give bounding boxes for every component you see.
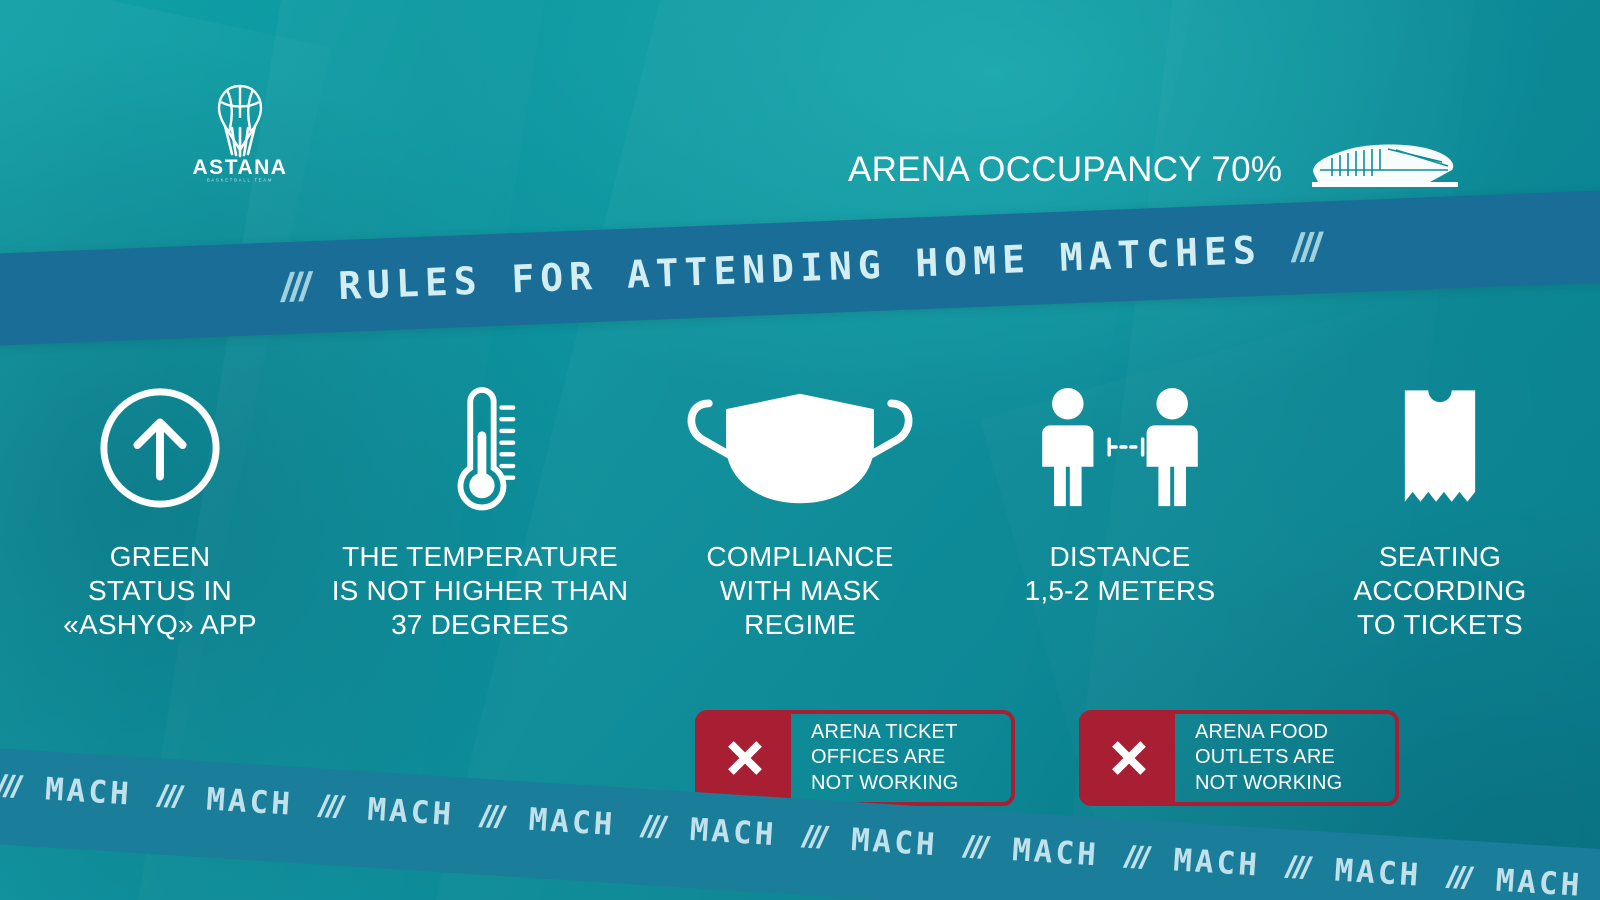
bottom-banner-word: MACH (205, 781, 294, 822)
rule-item-mask: COMPLIANCE WITH MASK REGIME (640, 378, 960, 642)
bottom-banner-slashes: /// (318, 788, 343, 825)
warning-box-ticket-offices: ARENA TICKET OFFICES ARE NOT WORKING (695, 710, 1015, 806)
banner-title: RULES FOR ATTENDING HOME MATCHES (337, 228, 1262, 308)
rule-label: DISTANCE 1,5-2 METERS (1025, 540, 1216, 608)
rule-item-temperature: THE TEMPERATURE IS NOT HIGHER THAN 37 DE… (320, 378, 640, 642)
rule-item-green-status: GREEN STATUS IN «ASHYQ» APP (0, 378, 320, 642)
bottom-banner-slashes: /// (1446, 859, 1471, 896)
warning-text: ARENA TICKET OFFICES ARE NOT WORKING (791, 714, 1011, 802)
rule-label: GREEN STATUS IN «ASHYQ» APP (63, 540, 257, 642)
warning-boxes: ARENA TICKET OFFICES ARE NOT WORKING ARE… (695, 710, 1399, 806)
rule-label: THE TEMPERATURE IS NOT HIGHER THAN 37 DE… (332, 540, 629, 642)
bottom-banner-slashes: /// (0, 768, 20, 805)
arena-icon (1310, 140, 1460, 200)
banner-slashes-left: /// (280, 265, 309, 311)
bottom-banner-word: MACH (1172, 842, 1261, 883)
logo-subtitle: BASKETBALL TEAM (207, 178, 273, 183)
bottom-banner-slashes: /// (640, 809, 665, 846)
bottom-banner-word: MACH (1495, 863, 1584, 900)
bottom-banner-slashes: /// (479, 799, 504, 836)
logo-wordmark: ASTANA (193, 156, 288, 179)
astana-logo: ASTANA BASKETBALL TEAM (165, 78, 315, 183)
cross-x-icon (699, 714, 791, 802)
rules-icon-row: GREEN STATUS IN «ASHYQ» APP THE TEMPERAT… (0, 378, 1600, 642)
bottom-banner-slashes: /// (156, 778, 181, 815)
rule-label: SEATING ACCORDING TO TICKETS (1354, 540, 1527, 642)
bottom-banner-word: MACH (44, 771, 133, 812)
warning-text: ARENA FOOD OUTLETS ARE NOT WORKING (1175, 714, 1395, 802)
arena-occupancy: ARENA OCCUPANCY 70% (848, 140, 1460, 200)
warning-box-food-outlets: ARENA FOOD OUTLETS ARE NOT WORKING (1079, 710, 1399, 806)
bottom-banner-word: MACH (1011, 832, 1100, 873)
bottom-banner-slashes: /// (1285, 849, 1310, 886)
bottom-banner-word: MACH (528, 802, 617, 843)
rule-item-seating: SEATING ACCORDING TO TICKETS (1280, 378, 1600, 642)
bottom-banner-slashes: /// (1124, 839, 1149, 876)
social-distance-icon (1036, 378, 1204, 518)
rule-item-distance: DISTANCE 1,5-2 METERS (960, 378, 1280, 642)
banner-slashes-right: /// (1291, 225, 1320, 271)
arrow-up-circle-icon (96, 378, 224, 518)
thermometer-icon (441, 378, 519, 518)
face-mask-icon (680, 378, 920, 518)
bottom-banner-word: MACH (366, 792, 455, 833)
cross-x-icon (1083, 714, 1175, 802)
bottom-banner-slashes: /// (801, 819, 826, 856)
bottom-banner-word: MACH (689, 812, 778, 853)
ticket-icon (1399, 378, 1481, 518)
bottom-banner-word: MACH (850, 822, 939, 863)
bottom-banner-word: MACH (1333, 852, 1422, 893)
bottom-banner-slashes: /// (962, 829, 987, 866)
rule-label: COMPLIANCE WITH MASK REGIME (706, 540, 893, 642)
arena-occupancy-label: ARENA OCCUPANCY 70% (848, 150, 1282, 190)
